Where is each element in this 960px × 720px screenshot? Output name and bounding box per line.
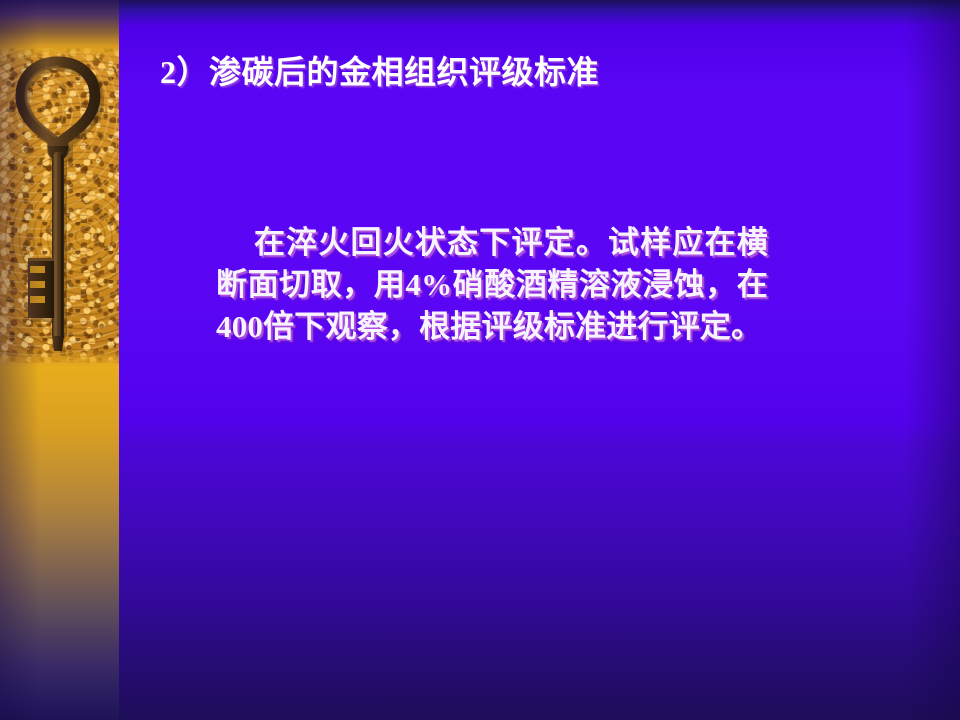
- slide-background: [0, 0, 960, 720]
- slide-body-text: 在淬火回火状态下评定。试样应在横断面切取，用4%硝酸酒精溶液浸蚀，在400倍下观…: [216, 222, 768, 348]
- presentation-slide: 2）渗碳后的金相组织评级标准 在淬火回火状态下评定。试样应在横断面切取，用4%硝…: [0, 0, 960, 720]
- key-bow: [21, 62, 95, 152]
- slide-title: 2）渗碳后的金相组织评级标准: [160, 54, 780, 92]
- sidebar-decorative-panel: [0, 0, 119, 720]
- key-tip: [52, 336, 64, 351]
- skeleton-key-icon: [0, 48, 119, 368]
- key-photo: [0, 48, 119, 368]
